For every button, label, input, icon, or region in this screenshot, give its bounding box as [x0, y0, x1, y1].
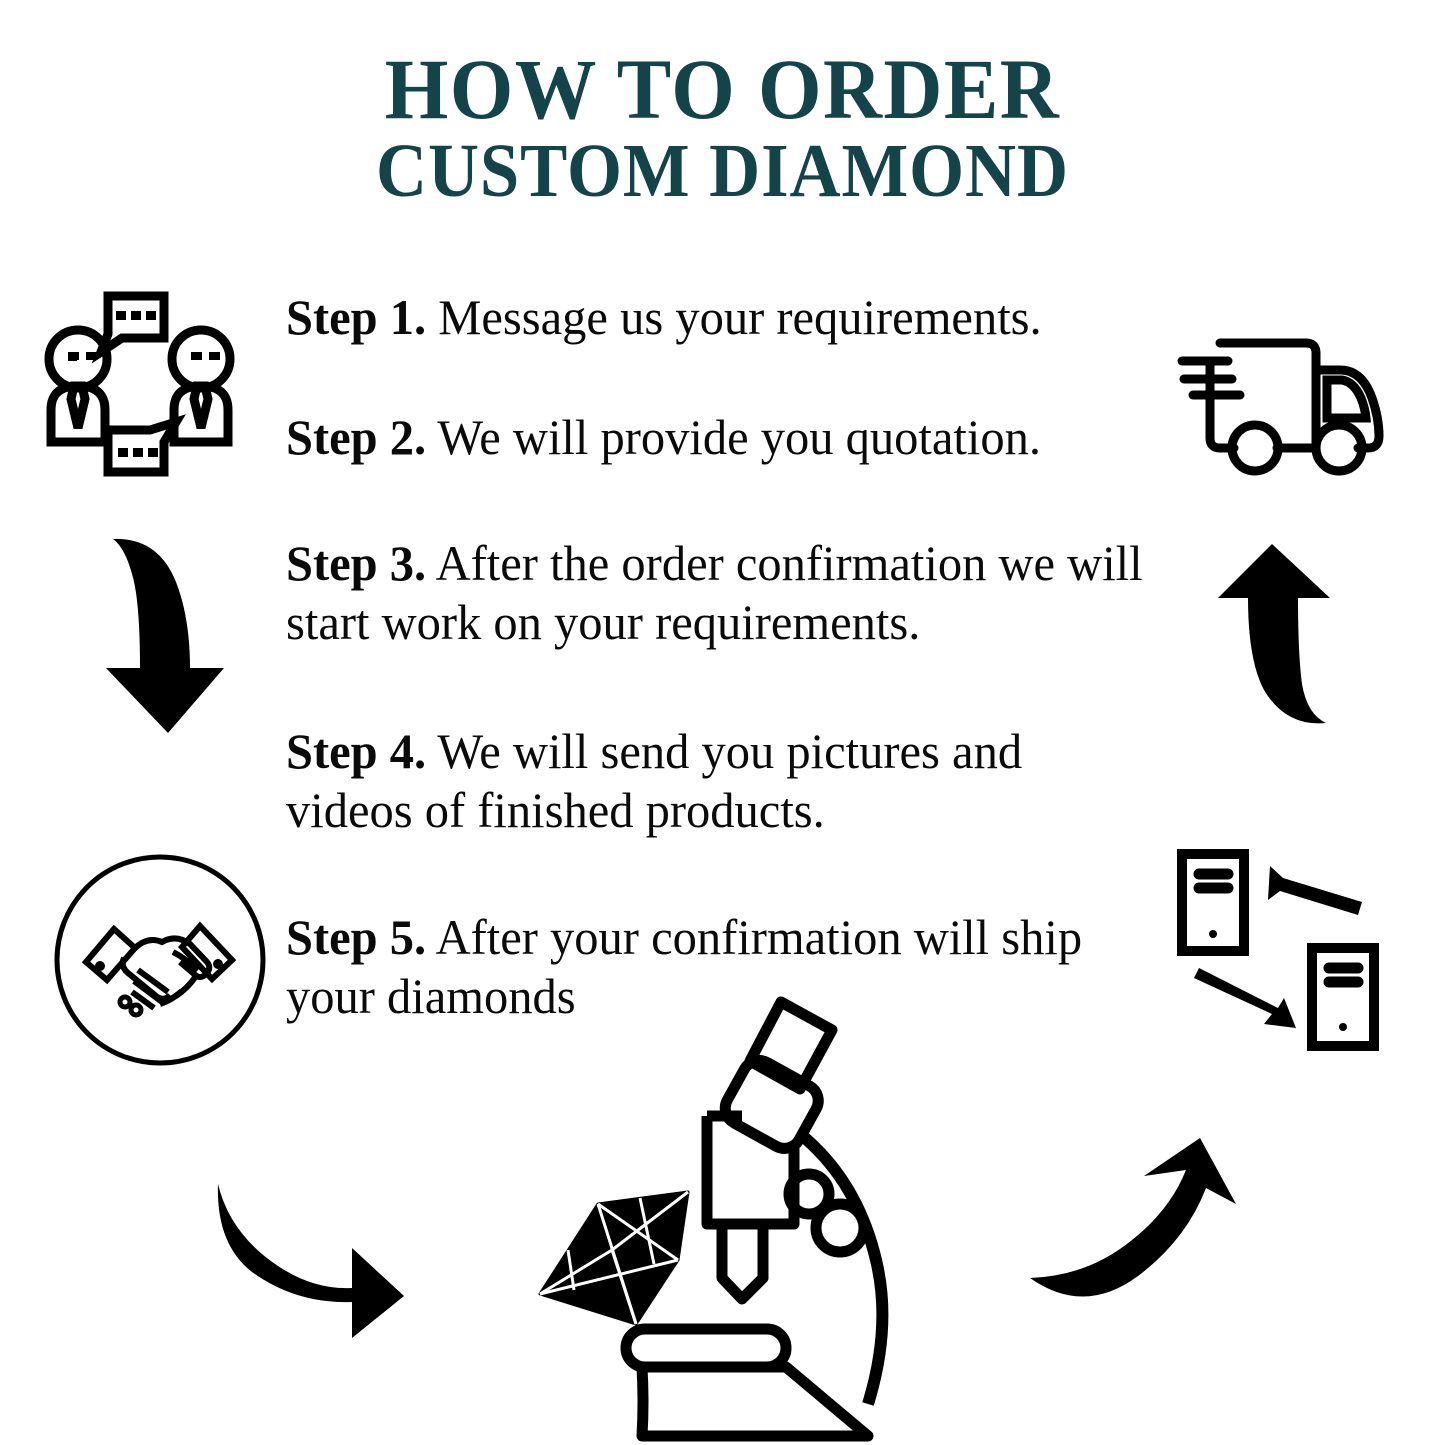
consultation-people-chat-icon [38, 282, 258, 478]
step-label-5: Step 5. [286, 909, 426, 965]
curved-arrow-top-right-icon [1022, 1132, 1248, 1318]
step-item-2: Step 2. We will provide you quotation. [286, 408, 1159, 467]
page-title-line-2: CUSTOM DIAMOND [51, 135, 1395, 208]
infographic-canvas: HOW TO ORDER CUSTOM DIAMOND Step 1. Mess… [0, 0, 1445, 1445]
step-text-1: Message us your requirements. [426, 289, 1042, 345]
step-text-2: We will provide you quotation. [426, 409, 1041, 465]
step-item-1: Step 1. Message us your requirements. [286, 288, 1159, 347]
step-label-2: Step 2. [286, 409, 426, 465]
microscope-diamond-icon [528, 988, 934, 1445]
delivery-truck-icon [1172, 330, 1404, 490]
step-item-3: Step 3. After the order confirmation we … [286, 534, 1159, 652]
curved-arrow-bottom-right-icon [204, 1178, 430, 1342]
curved-arrow-down-icon [96, 528, 248, 740]
page-title-line-1: HOW TO ORDER [36, 48, 1409, 131]
curved-arrow-up-icon [1212, 534, 1368, 730]
step-label-4: Step 4. [286, 723, 426, 779]
step-label-3: Step 3. [286, 535, 426, 591]
step-item-4: Step 4. We will send you pictures and vi… [286, 722, 1159, 840]
device-exchange-icon [1166, 844, 1398, 1058]
handshake-circle-icon [52, 852, 268, 1068]
page-title: HOW TO ORDER CUSTOM DIAMOND [0, 48, 1445, 208]
step-label-1: Step 1. [286, 289, 426, 345]
